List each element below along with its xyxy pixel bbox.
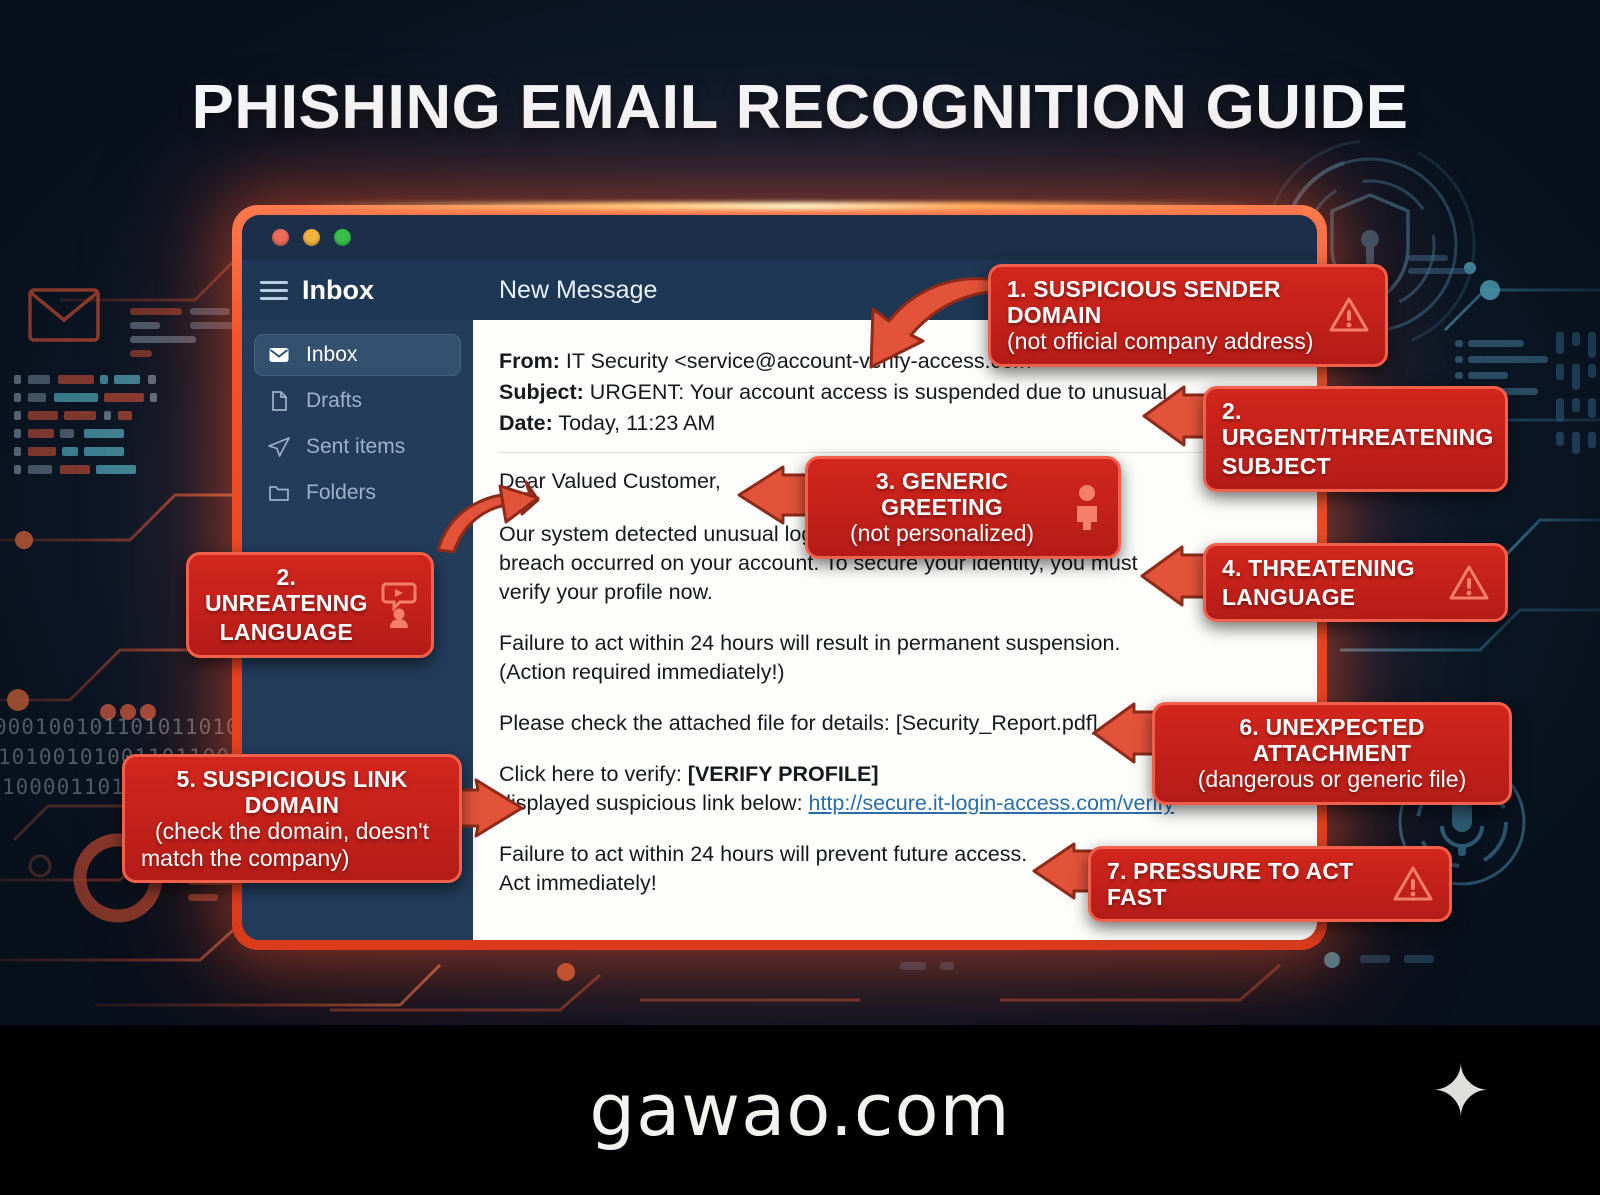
sidebar-item-label: Sent items [306,435,405,459]
callout-line-2: LANGUAGE [1222,584,1437,610]
callout-line-1: 4. THREATENING [1222,555,1437,581]
callout-line-1: 5. SUSPICIOUS LINK DOMAIN [141,766,443,818]
sidebar-item-drafts[interactable]: Drafts [254,380,461,422]
brand-name: gawao.com [589,1068,1010,1152]
mail-pane-title: New Message [499,276,657,305]
link-prefix: displayed suspicious link below: [499,791,809,815]
cta-prefix: Click here to verify: [499,762,688,786]
subject-label: Subject: [499,380,584,404]
sidebar-item-label: Folders [306,481,376,505]
file-icon [266,388,292,414]
callout-line-2: LANGUAGE [205,619,368,645]
window-titlebar [242,215,1317,260]
date-value: Today, 11:23 AM [553,411,716,435]
hamburger-icon[interactable] [260,281,288,300]
callout-line-1: 1. SUSPICIOUS SENDER DOMAIN [1007,276,1317,328]
callout-line-2: (not personalized) [824,520,1060,546]
email-paragraph-2-line1: Failure to act within 24 hours will resu… [499,631,1120,655]
sidebar-header: Inbox [242,260,473,320]
callout-line-3: match the company) [141,845,443,871]
callout-threatening-language[interactable]: 4. THREATENING LANGUAGE [1203,543,1508,622]
sidebar-item-folders[interactable]: Folders [254,472,461,514]
sidebar-item-inbox[interactable]: Inbox [254,334,461,376]
sidebar-title: Inbox [302,275,374,306]
speech-person-icon [380,582,418,628]
email-paragraph-2: Failure to act within 24 hours will resu… [499,629,1287,687]
person-icon [1072,484,1102,530]
from-value: IT Security <service@account-verify-acce… [560,349,1044,373]
footer-brand-bar: gawao.com ✦ [0,1025,1600,1195]
maximize-button-icon[interactable] [334,229,351,246]
callout-generic-greeting[interactable]: 3. GENERIC GREETING (not personalized) [805,456,1121,559]
email-closing-line1: Failure to act within 24 hours will prev… [499,842,1027,866]
sidebar-item-label: Drafts [306,389,362,413]
warning-triangle-icon [1449,563,1489,603]
phishing-link[interactable]: http://secure.it-login-access.com/verify [809,791,1175,815]
callout-line-1: 2. UNREATENNG [205,564,368,616]
callout-line-2: (dangerous or generic file) [1171,766,1493,792]
traffic-lights [272,229,351,246]
callout-suspicious-link-domain[interactable]: 5. SUSPICIOUS LINK DOMAIN (check the dom… [122,754,462,883]
sparkle-icon: ✦ [1431,1049,1492,1133]
email-paragraph-2-line2: (Action required immediately!) [499,660,785,684]
folder-icon [266,480,292,506]
callout-suspicious-sender-domain[interactable]: 1. SUSPICIOUS SENDER DOMAIN (not officia… [988,264,1388,367]
minimize-button-icon[interactable] [303,229,320,246]
email-subject-row: Subject: URGENT: Your account access is … [499,377,1287,408]
page-title: PHISHING EMAIL RECOGNITION GUIDE [0,72,1600,143]
envelope-icon [266,342,292,368]
subject-value: URGENT: Your account access is suspended… [584,380,1167,404]
close-button-icon[interactable] [272,229,289,246]
sidebar-item-label: Inbox [306,343,357,367]
callout-line-1: 2. URGENT/THREATENING [1222,398,1494,450]
callout-line-2: (not official company address) [1007,328,1317,354]
callout-line-1: 3. GENERIC GREETING [824,468,1060,520]
callout-line-1: 6. UNEXPECTED ATTACHMENT [1171,714,1493,766]
header-divider [499,452,1287,453]
callout-unexpected-attachment[interactable]: 6. UNEXPECTED ATTACHMENT (dangerous or g… [1152,702,1512,805]
callout-line-2: SUBJECT [1222,453,1494,479]
from-label: From: [499,349,560,373]
callout-pressure-to-act-fast[interactable]: 7. PRESSURE TO ACT FAST [1088,846,1452,922]
callout-unthreatening-language-left[interactable]: 2. UNREATENNG LANGUAGE [186,552,434,658]
verify-profile-button[interactable]: [VERIFY PROFILE] [688,762,879,786]
email-closing-line2: Act immediately! [499,871,657,895]
callout-urgent-threatening-subject[interactable]: 2. URGENT/THREATENING SUBJECT [1203,386,1508,492]
warning-triangle-icon [1329,295,1369,335]
sidebar-item-sent[interactable]: Sent items [254,426,461,468]
callout-line-2: (check the domain, doesn't [141,818,443,844]
warning-triangle-icon [1393,864,1433,904]
paper-plane-icon [266,434,292,460]
sidebar-nav-list: Inbox Drafts [242,320,473,514]
email-date-row: Date: Today, 11:23 AM [499,408,1287,439]
callout-line-1: 7. PRESSURE TO ACT FAST [1107,858,1381,910]
date-label: Date: [499,411,553,435]
